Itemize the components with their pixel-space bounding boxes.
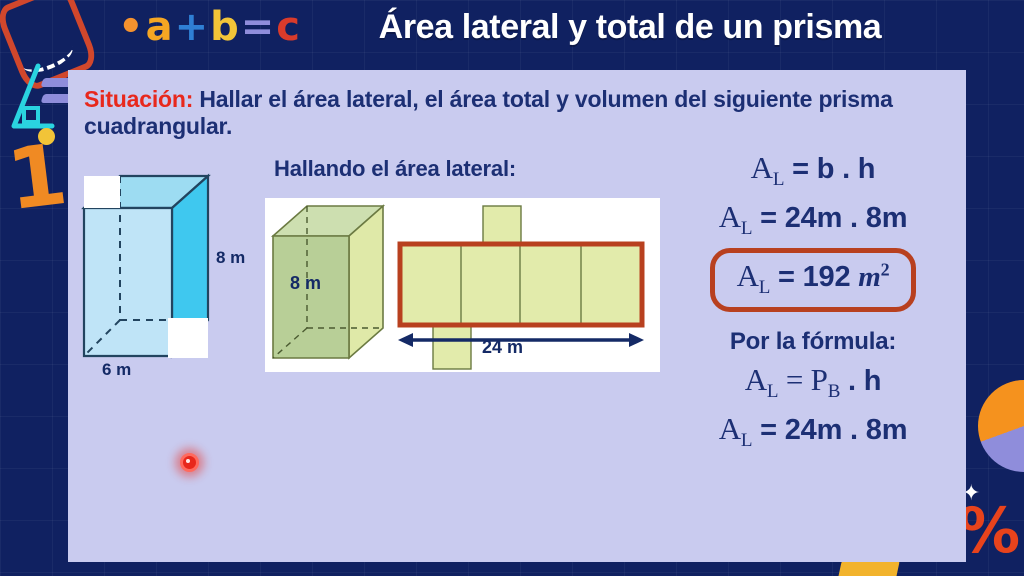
abc-a: a (146, 4, 175, 50)
left-prism-height-label: 8 m (216, 248, 245, 268)
formula-4-var: A (719, 411, 741, 446)
formula-4-rest: = 24m . 8m (752, 414, 907, 446)
formula-result-exponent: 2 (881, 260, 890, 280)
formula-3-var: A (745, 362, 767, 397)
formula-3-mid: = P (778, 362, 827, 397)
formula-result-rest: = 192 (770, 261, 858, 293)
formula-column: AL = b . h AL = 24m . 8m AL = 192 m2 Por… (668, 150, 958, 460)
percent-sign-decor: % (958, 500, 1020, 562)
one-numeral-decor: 1 (4, 137, 71, 219)
formula-al-24-8: AL = 24m . 8m (668, 199, 958, 240)
green-prism-and-net-svg (265, 198, 660, 372)
abc-c: c (276, 4, 302, 50)
net-height-label: 8 m (290, 273, 321, 294)
formula-2-sub: L (741, 218, 752, 239)
abc-equals: = (241, 4, 277, 50)
abc-equation-decor: •a+b=c (118, 4, 302, 50)
formula-2-var: A (719, 199, 741, 234)
formula-result-unit: m (858, 261, 880, 293)
abc-dot: • (118, 4, 146, 50)
formula-3-sub2: B (828, 381, 840, 402)
formula-result-sub: L (759, 278, 770, 299)
pie-chart-icon (978, 380, 1024, 472)
green-arrow-marker (261, 277, 287, 287)
formula-4-sub: L (741, 430, 752, 451)
page-title: Área lateral y total de un prisma (300, 8, 960, 47)
net-perimeter-label: 24 m (482, 337, 523, 358)
formula-al-b-h: AL = b . h (668, 150, 958, 191)
por-la-formula-label: Por la fórmula: (668, 328, 958, 356)
subheading-hallando: Hallando el área lateral: (274, 156, 516, 182)
formula-result-box: AL = 192 m2 (710, 248, 917, 311)
blue-prism-figure: 8 m 6 m (76, 170, 276, 370)
formula-3-sub: L (767, 381, 778, 402)
formula-1-rest: = b . h (784, 153, 875, 185)
situacion-paragraph: Situación: Hallar el área lateral, el ár… (84, 86, 954, 140)
set-square-icon (8, 62, 56, 134)
white-patch-bottomright (168, 318, 208, 358)
red-cursor-dot (180, 453, 199, 472)
formula-1-var: A (751, 150, 773, 185)
abc-plus: + (175, 4, 211, 50)
formula-al-pb-h: AL = PB . h (668, 362, 958, 403)
white-patch-topleft (84, 176, 120, 208)
slide-root: Área lateral y total de un prisma •a+b=c… (0, 0, 1024, 576)
formula-3-rest: . h (840, 365, 881, 397)
content-panel: Situación: Hallar el área lateral, el ár… (68, 70, 966, 562)
white-illustration-panel (265, 198, 660, 372)
situacion-text: Hallar el área lateral, el área total y … (84, 86, 893, 139)
formula-al-24-8-b: AL = 24m . 8m (668, 411, 958, 452)
formula-1-sub: L (773, 169, 784, 190)
abc-b: b (210, 4, 241, 50)
left-prism-width-label: 6 m (102, 360, 131, 380)
formula-result-row: AL = 192 m2 (668, 248, 958, 311)
yellow-dot-decor (38, 128, 55, 145)
formula-2-rest: = 24m . 8m (752, 202, 907, 234)
formula-result-var: A (737, 258, 759, 293)
situacion-label: Situación: (84, 86, 193, 112)
